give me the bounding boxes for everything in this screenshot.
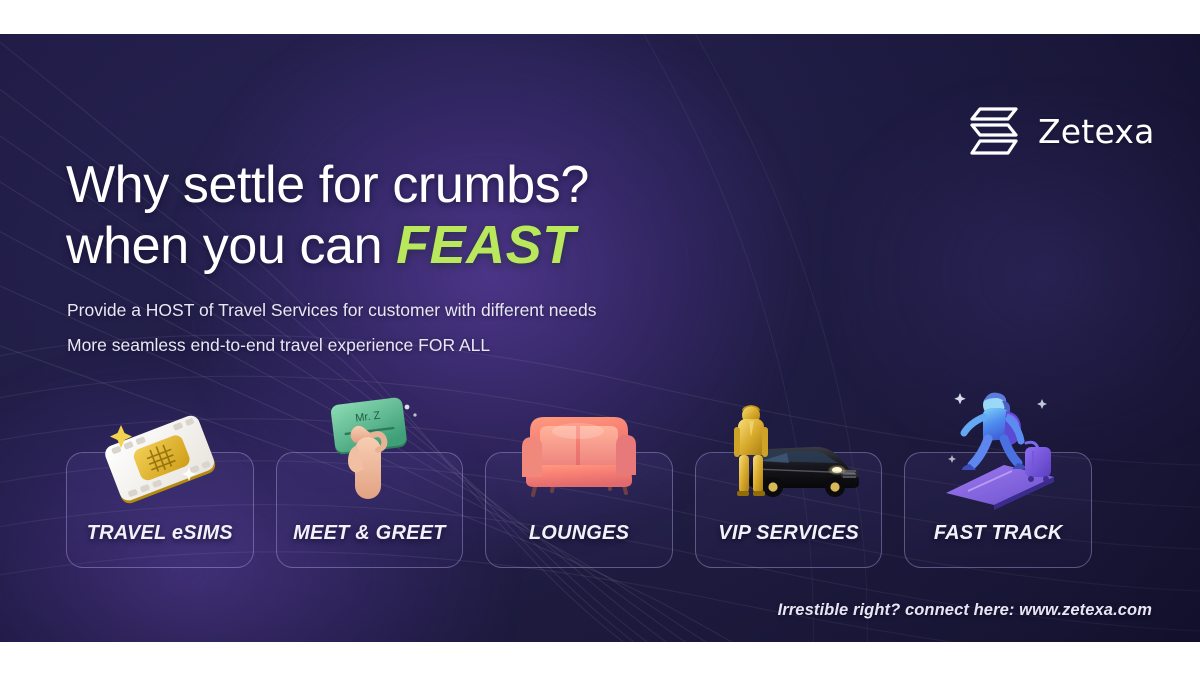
service-card-lounges[interactable]: LOUNGES: [485, 452, 673, 568]
service-card-label: VIP SERVICES: [718, 522, 859, 545]
service-card-fast-track[interactable]: FAST TRACK: [904, 452, 1092, 568]
service-card-label: FAST TRACK: [934, 522, 1063, 545]
promo-banner: Zetexa Why settle for crumbs? when you c…: [0, 0, 1200, 675]
service-card-vip-services[interactable]: VIP SERVICES: [695, 452, 883, 568]
service-card-meet-greet[interactable]: Mr. Z MEET & GREET: [276, 452, 464, 568]
service-card-travel-esims[interactable]: TRAVEL eSIMS: [66, 452, 254, 568]
headline-line-2-prefix: when you can: [66, 217, 396, 275]
headline-line-2: when you can FEAST: [66, 215, 786, 276]
headline-line-1: Why settle for crumbs?: [66, 156, 589, 214]
subcopy-line-2: More seamless end-to-end travel experien…: [67, 328, 827, 363]
footer-cta[interactable]: Irrestible right? connect here: www.zete…: [0, 601, 1152, 620]
brand-logo[interactable]: Zetexa: [968, 96, 1158, 166]
service-card-row: TRAVEL eSIMS: [66, 452, 1092, 568]
zetexa-z-mark-icon: [968, 100, 1024, 162]
service-card-label: MEET & GREET: [293, 522, 445, 545]
brand-wordmark: Zetexa: [1038, 112, 1155, 151]
subcopy: Provide a HOST of Travel Services for cu…: [67, 293, 827, 363]
service-card-label: TRAVEL eSIMS: [87, 522, 233, 545]
service-card-label: LOUNGES: [529, 522, 629, 545]
headline: Why settle for crumbs? when you can FEAS…: [66, 156, 786, 276]
headline-emphasis-feast: FEAST: [396, 215, 576, 275]
artwork-stage: Zetexa Why settle for crumbs? when you c…: [0, 34, 1200, 642]
subcopy-line-1: Provide a HOST of Travel Services for cu…: [67, 293, 827, 328]
